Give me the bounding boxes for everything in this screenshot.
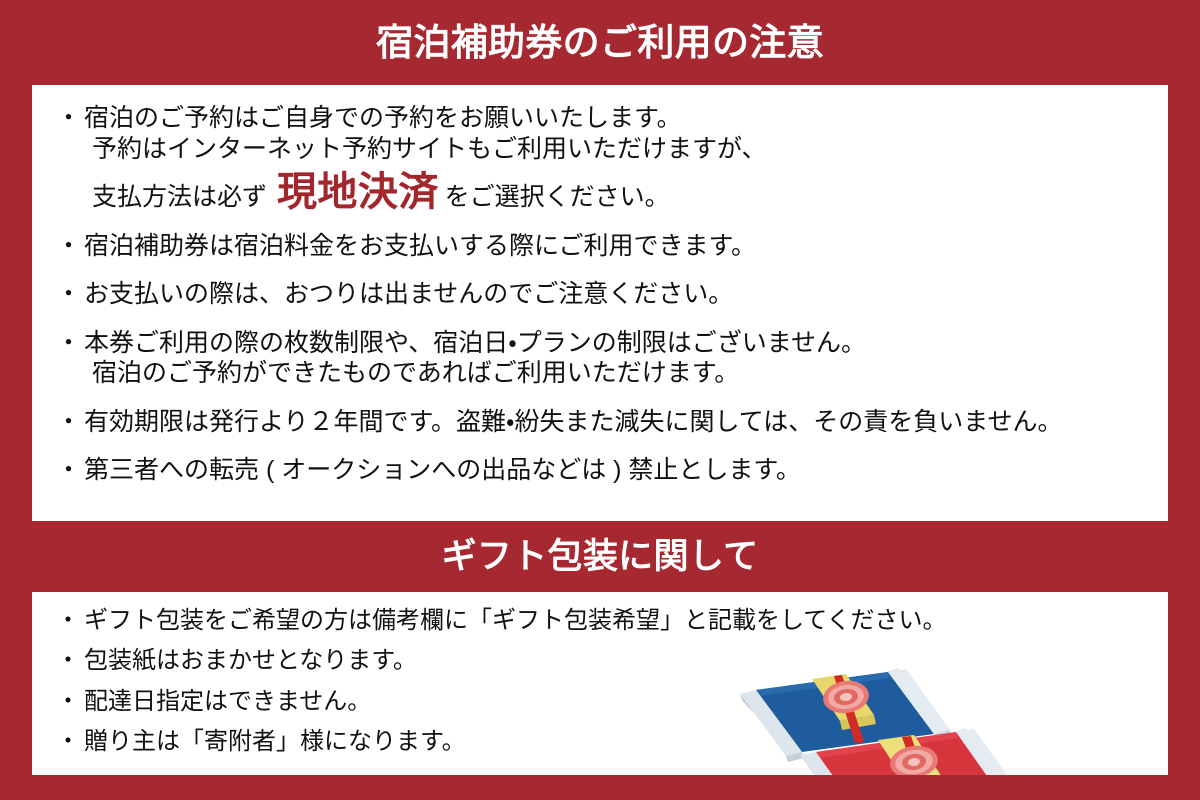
payment-method-emphasis: 支払方法は必ず 現地決済 をご選択ください。 — [84, 172, 1146, 213]
notice-line: 本券ご利用の際の枚数制限や、宿泊日・プランの制限はございません。 — [84, 328, 1146, 359]
list-item: 宿泊補助券は宿泊料金をお支払いする際にご利用できます。 — [54, 231, 1146, 262]
notice-panel: 宿泊のご予約はご自身での予約をお願いいたします。 予約はインターネット予約サイト… — [32, 85, 1168, 521]
gift-line: ギフト包装をご希望の方は備考欄に「ギフト包装希望」と記載をしてください。 — [84, 606, 1146, 635]
list-item: 宿泊のご予約はご自身での予約をお願いいたします。 予約はインターネット予約サイト… — [54, 103, 1146, 213]
page-title: 宿泊補助券のご利用の注意 — [376, 24, 824, 61]
notice-list: 宿泊のご予約はご自身での予約をお願いいたします。 予約はインターネット予約サイト… — [54, 103, 1146, 486]
gift-line: 包装紙はおまかせとなります。 — [84, 646, 1146, 675]
gift-section-title: ギフト包装に関して — [442, 539, 759, 574]
emphasis-suffix: をご選択ください。 — [445, 182, 670, 213]
list-item: 本券ご利用の際の枚数制限や、宿泊日・プランの制限はございません。 宿泊のご予約が… — [54, 328, 1146, 389]
poster-root: 宿泊補助券のご利用の注意 宿泊のご予約はご自身での予約をお願いいたします。 予約… — [0, 0, 1200, 800]
list-item: 配達日指定はできません。 — [54, 687, 1146, 716]
list-item: ギフト包装をご希望の方は備考欄に「ギフト包装希望」と記載をしてください。 — [54, 606, 1146, 635]
notice-line: お支払いの際は、おつりは出ませんのでご注意ください。 — [84, 279, 1146, 310]
notice-line: 予約はインターネット予約サイトもご利用いただけますが、 — [84, 134, 1146, 165]
notice-line: 第三者への転売 ( オークションへの出品などは ) 禁止とします。 — [84, 455, 1146, 486]
list-item: 包装紙はおまかせとなります。 — [54, 646, 1146, 675]
notice-heading-band: 宿泊補助券のご利用の注意 — [0, 0, 1200, 85]
gift-heading-band: ギフト包装に関して — [0, 521, 1200, 592]
notice-line: 宿泊補助券は宿泊料金をお支払いする際にご利用できます。 — [84, 231, 1146, 262]
onsite-payment-highlight: 現地決済 — [277, 172, 439, 212]
bottom-border — [0, 775, 1200, 800]
list-item: お支払いの際は、おつりは出ませんのでご注意ください。 — [54, 279, 1146, 310]
notice-line: 宿泊のご予約ができたものであればご利用いただけます。 — [84, 358, 1146, 389]
gift-list: ギフト包装をご希望の方は備考欄に「ギフト包装希望」と記載をしてください。 包装紙… — [54, 606, 1146, 756]
notice-line: 宿泊のご予約はご自身での予約をお願いいたします。 — [84, 103, 1146, 134]
list-item: 贈り主は「寄附者」様になります。 — [54, 727, 1146, 756]
gift-line: 贈り主は「寄附者」様になります。 — [84, 727, 1146, 756]
gift-panel: ギフト包装をご希望の方は備考欄に「ギフト包装希望」と記載をしてください。 包装紙… — [32, 592, 1168, 775]
notice-line: 有効期限は発行より２年間です。盗難・紛失また減失に関しては、その責を負いません。 — [84, 407, 1146, 438]
gift-line: 配達日指定はできません。 — [84, 687, 1146, 716]
list-item: 有効期限は発行より２年間です。盗難・紛失また減失に関しては、その責を負いません。 — [54, 407, 1146, 438]
emphasis-prefix: 支払方法は必ず — [92, 182, 267, 213]
list-item: 第三者への転売 ( オークションへの出品などは ) 禁止とします。 — [54, 455, 1146, 486]
